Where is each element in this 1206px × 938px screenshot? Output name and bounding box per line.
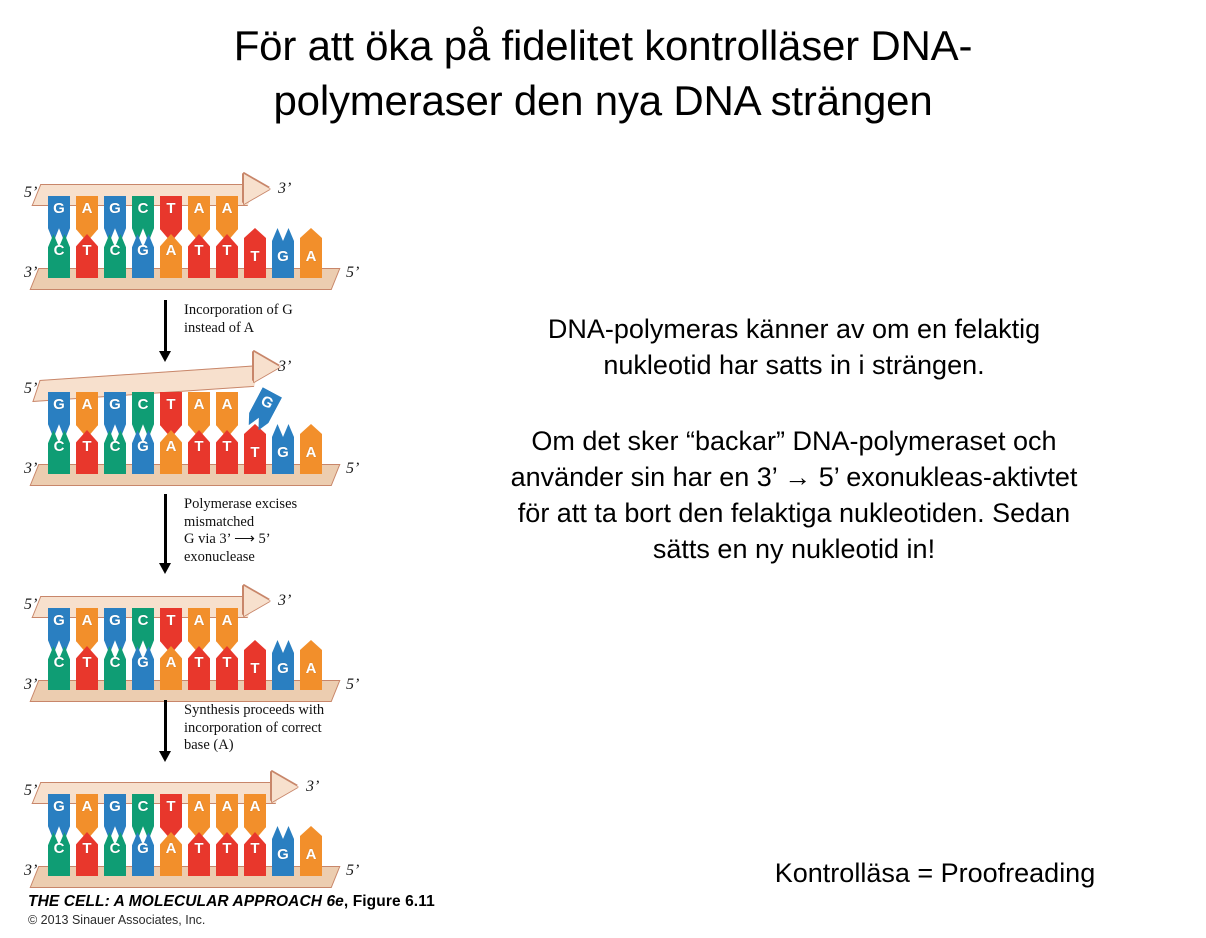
bottom-base-label: A [160, 644, 182, 688]
prime-label-3-bottom-left: 3’ [24, 460, 37, 478]
credit-figure-number: , Figure 6.11 [344, 893, 435, 910]
prime-label-5-bottom-right: 5’ [346, 862, 359, 880]
bottom-base-label: C [48, 830, 70, 874]
bottom-base-label: T [244, 434, 266, 478]
mismatch-excised: GCATGCCGTAATATTGA5’3’3’5’ [24, 588, 364, 708]
bottom-base-label: T [188, 644, 210, 688]
process-arrow-icon [164, 300, 167, 352]
body-p2-line-4: sätts en ny nukleotid in! [448, 532, 1140, 568]
new-strand-direction-arrow-icon [244, 586, 270, 616]
process-arrow-icon [164, 494, 167, 564]
bottom-base-label: T [188, 232, 210, 276]
bottom-base-label: T [244, 830, 266, 874]
bottom-base-label: T [216, 232, 238, 276]
transition-1-caption-line-2: instead of A [184, 320, 384, 338]
bottom-base-label: C [104, 644, 126, 688]
bottom-base-label: G [132, 232, 154, 276]
body-p2-line-3: för att ta bort den felaktiga nukleotide… [448, 496, 1140, 532]
source-credit: THE CELL: A MOLECULAR APPROACH 6e, Figur… [28, 893, 458, 927]
transition-3-caption-line-3: base (A) [184, 737, 384, 755]
bottom-base-label: T [76, 232, 98, 276]
bottom-base-label: T [216, 644, 238, 688]
bottom-base-label: T [188, 830, 210, 874]
transition-2: Polymerase excisesmismatchedG via 3’ ⟶ 5… [24, 494, 380, 574]
transition-1-caption-line-1: Incorporation of G [184, 302, 384, 320]
bottom-base-label: A [300, 238, 322, 282]
bottom-base-label: G [272, 434, 294, 478]
bottom-base-label: C [48, 428, 70, 472]
bottom-base-label: C [104, 232, 126, 276]
new-strand-direction-arrow-icon [272, 772, 298, 802]
bottom-base-label: G [272, 238, 294, 282]
body-p1-line-1: DNA-polymeras känner av om en felaktig [448, 312, 1140, 348]
bottom-base-label: T [76, 830, 98, 874]
bottom-base-label: G [272, 650, 294, 694]
correctly-paired-duplex: GCATGCCGTAATATTGA5’3’3’5’ [24, 176, 364, 296]
mismatched-base-g: G [244, 387, 282, 433]
body-p2-line-1: Om det sker “backar” DNA-polymeraset och [448, 424, 1140, 460]
bottom-base-label: C [104, 428, 126, 472]
bottom-base-label: A [300, 434, 322, 478]
transition-2-caption-line-2: mismatched [184, 514, 384, 532]
prime-label-3-top-right: 3’ [278, 592, 291, 610]
correct-base-incorporated: GCATGCCGTAATATATGA5’3’3’5’ [24, 774, 364, 894]
bottom-base-label: T [244, 238, 266, 282]
prime-label-3-top-right: 3’ [278, 180, 291, 198]
bottom-base-label: T [244, 650, 266, 694]
prime-label-3-bottom-left: 3’ [24, 264, 37, 282]
mismatched-g-incorporated: GCATGCCGTAATATTGAG5’3’3’5’ [24, 372, 364, 492]
body-p2-line-2: använder sin har en 3’ → 5’ exonukleas-a… [448, 460, 1140, 496]
transition-3: Synthesis proceeds withincorporation of … [24, 700, 380, 762]
bottom-base-label: A [160, 428, 182, 472]
credit-line-1: THE CELL: A MOLECULAR APPROACH 6e, Figur… [28, 893, 458, 911]
bottom-base-label: T [216, 428, 238, 472]
body-paragraph-1: DNA-polymeras känner av om en felaktig n… [448, 312, 1140, 384]
transition-2-caption-line-4: exonuclease [184, 549, 384, 567]
prime-label-3-top-right: 3’ [306, 778, 319, 796]
bottom-base-label: G [132, 428, 154, 472]
page-title: För att öka på fidelitet kontrolläser DN… [60, 18, 1146, 129]
transition-2-caption-line-1: Polymerase excises [184, 496, 384, 514]
bottom-base-label: C [48, 644, 70, 688]
prime-label-3-bottom-left: 3’ [24, 862, 37, 880]
transition-2-caption: Polymerase excisesmismatchedG via 3’ ⟶ 5… [184, 496, 384, 567]
page-title-line-1: För att öka på fidelitet kontrolläser DN… [60, 18, 1146, 73]
body-paragraph-2: Om det sker “backar” DNA-polymeraset och… [448, 424, 1140, 568]
bottom-base-label: T [76, 428, 98, 472]
transition-2-caption-line-3: G via 3’ ⟶ 5’ [184, 531, 384, 549]
new-strand-direction-arrow-icon [244, 174, 270, 204]
bottom-base-label: C [104, 830, 126, 874]
prime-label-5-bottom-right: 5’ [346, 460, 359, 478]
prime-label-5-bottom-right: 5’ [346, 676, 359, 694]
prime-label-5-top-left: 5’ [24, 184, 37, 202]
prime-label-5-bottom-right: 5’ [346, 264, 359, 282]
transition-3-caption-line-1: Synthesis proceeds with [184, 702, 384, 720]
transition-3-caption-line-2: incorporation of correct [184, 720, 384, 738]
slide-canvas: För att öka på fidelitet kontrolläser DN… [0, 0, 1206, 938]
prime-label-5-top-left: 5’ [24, 782, 37, 800]
credit-line-2: © 2013 Sinauer Associates, Inc. [28, 913, 458, 927]
bottom-base-label: G [272, 836, 294, 880]
prime-label-5-top-left: 5’ [24, 380, 37, 398]
footnote-text: Kontrolläsa = Proofreading [700, 858, 1170, 889]
bottom-base-label: G [132, 644, 154, 688]
body-p1-line-2: nukleotid har satts in i strängen. [448, 348, 1140, 384]
bottom-base-label: A [300, 650, 322, 694]
paragraph-spacer [448, 384, 1140, 424]
body-text-block: DNA-polymeras känner av om en felaktig n… [448, 312, 1140, 567]
bottom-base-label: T [216, 830, 238, 874]
transition-1-caption: Incorporation of Ginstead of A [184, 302, 384, 337]
process-arrow-icon [164, 700, 167, 752]
prime-label-5-top-left: 5’ [24, 596, 37, 614]
bottom-base-label: A [160, 830, 182, 874]
bottom-base-label: A [160, 232, 182, 276]
bottom-base-label: A [300, 836, 322, 880]
transition-1: Incorporation of Ginstead of A [24, 300, 380, 362]
bottom-base-label: G [132, 830, 154, 874]
credit-book-title: THE CELL: A MOLECULAR APPROACH 6e [28, 893, 344, 910]
page-title-line-2: polymeraser den nya DNA strängen [60, 73, 1146, 128]
bottom-base-label: C [48, 232, 70, 276]
prime-label-3-bottom-left: 3’ [24, 676, 37, 694]
transition-3-caption: Synthesis proceeds withincorporation of … [184, 702, 384, 755]
bottom-base-label: T [188, 428, 210, 472]
proofreading-figure: GCATGCCGTAATATTGA5’3’3’5’GCATGCCGTAATATT… [24, 176, 380, 886]
bottom-base-label: T [76, 644, 98, 688]
